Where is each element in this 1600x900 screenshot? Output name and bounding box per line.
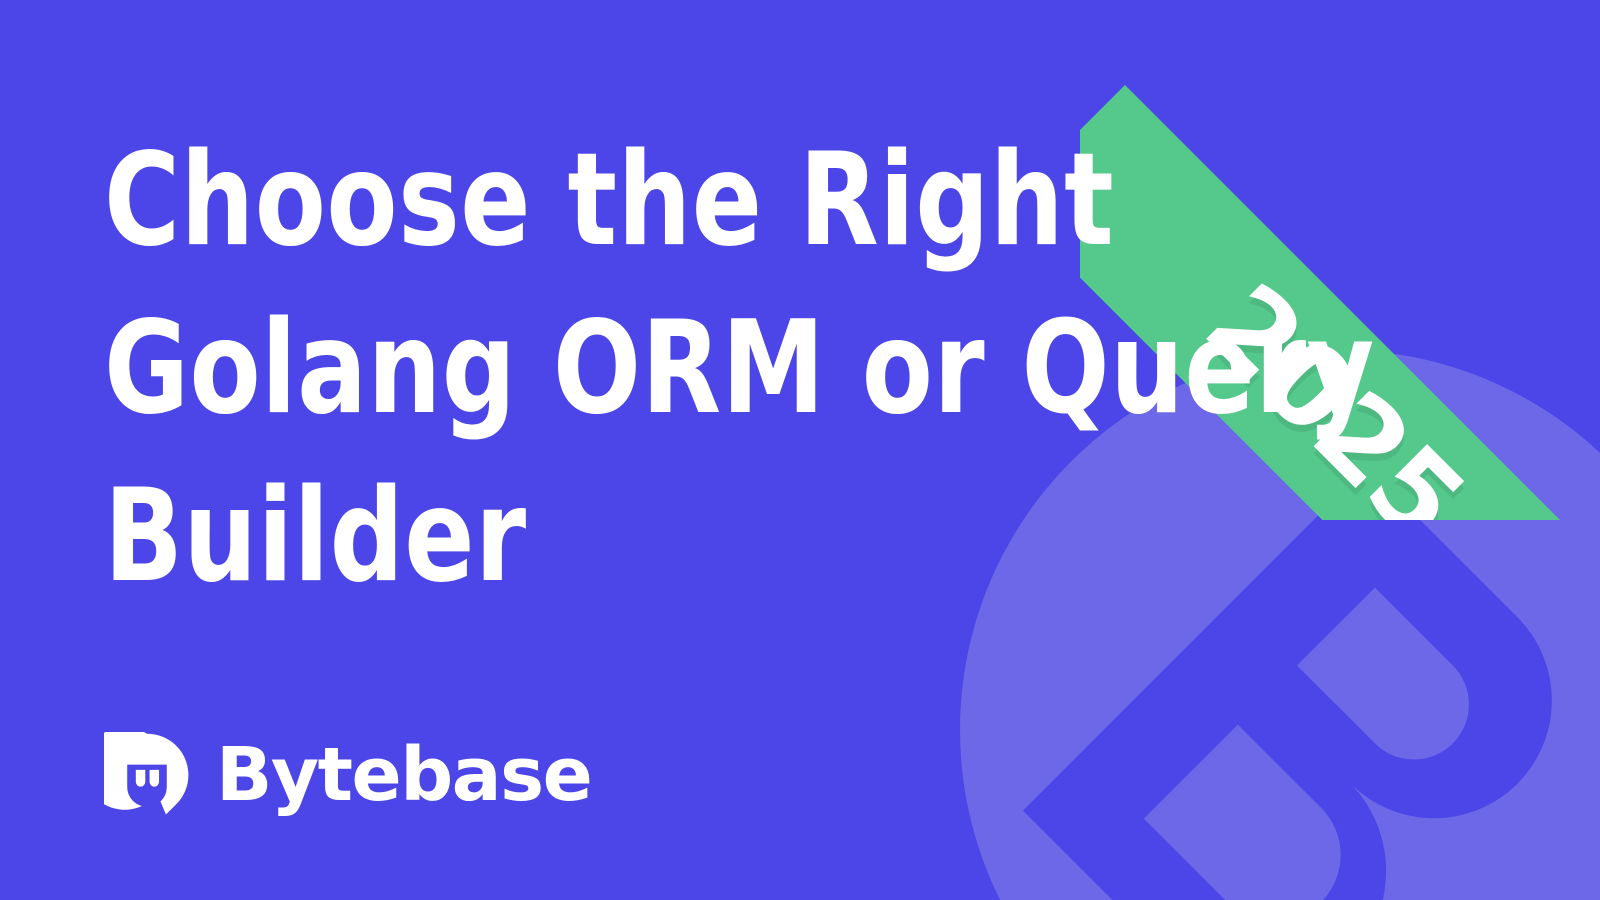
- cover-card: 2025 Choose the Right Golang ORM or Quer…: [0, 0, 1600, 900]
- brand-name: Bytebase: [216, 738, 591, 812]
- page-title: Choose the Right Golang ORM or Query Bui…: [104, 117, 1284, 621]
- page-title-line-3: Builder: [104, 453, 1166, 621]
- brand-lockup: Bytebase: [104, 732, 591, 818]
- page-title-line-2: Golang ORM or Query: [104, 285, 1166, 453]
- bytebase-logo-icon: [104, 732, 190, 818]
- page-title-line-1: Choose the Right: [104, 117, 1166, 285]
